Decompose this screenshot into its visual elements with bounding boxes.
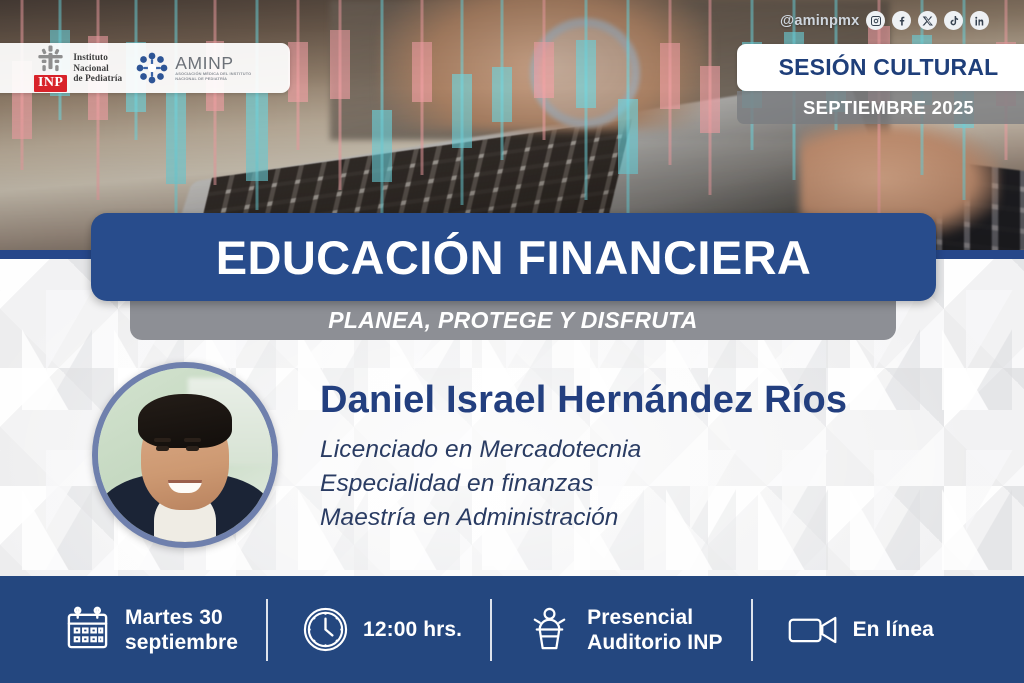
aminp-circle-icon <box>136 52 168 84</box>
session-month-box: SEPTIEMBRE 2025 <box>737 91 1024 124</box>
aminp-logo: AMINP ASOCIACIÓN MÉDICA DEL INSTITUTO NA… <box>136 52 267 84</box>
speaker-credentials: Licenciado en Mercadotecnia Especialidad… <box>320 434 641 534</box>
inp-line-2: Nacional <box>73 63 122 73</box>
clock-icon <box>302 606 349 653</box>
logo-box: INP Instituto Nacional de Pediatría <box>0 43 290 93</box>
inp-pediatrics-icon <box>37 44 64 74</box>
avatar-brow-left <box>154 438 171 442</box>
session-month: SEPTIEMBRE 2025 <box>803 97 974 119</box>
footer-info-bar: Martes 30 septiembre 12:00 hrs. <box>0 576 1024 683</box>
credential-line: Licenciado en Mercadotecnia <box>320 434 641 466</box>
poster-title: EDUCACIÓN FINANCIERA <box>216 234 812 281</box>
title-banner: EDUCACIÓN FINANCIERA <box>91 213 936 301</box>
footer-divider <box>266 599 268 661</box>
footer-item-date: Martes 30 septiembre <box>64 605 238 655</box>
facebook-icon[interactable] <box>892 11 911 30</box>
x-twitter-icon[interactable] <box>918 11 937 30</box>
social-bar: @aminpmx <box>780 11 989 30</box>
aminp-subtitle: ASOCIACIÓN MÉDICA DEL INSTITUTO NACIONAL… <box>175 72 267 81</box>
subtitle-bar: PLANEA, PROTEGE Y DISFRUTA <box>130 301 896 340</box>
footer-divider <box>751 599 753 661</box>
footer-online-text: En línea <box>853 617 934 642</box>
footer-divider <box>490 599 492 661</box>
footer-item-online: En línea <box>787 610 934 650</box>
avatar-brow-right <box>184 438 201 442</box>
inp-line-3: de Pediatría <box>73 73 122 83</box>
footer-time-text: 12:00 hrs. <box>363 617 462 642</box>
credential-line: Especialidad en finanzas <box>320 468 641 500</box>
speaker-avatar <box>92 362 278 548</box>
inp-logo: INP Instituto Nacional de Pediatría <box>34 44 122 92</box>
video-camera-icon <box>787 610 839 650</box>
linkedin-icon[interactable] <box>970 11 989 30</box>
podium-speaker-icon <box>526 606 573 653</box>
social-handle[interactable]: @aminpmx <box>780 13 859 29</box>
session-label: SESIÓN CULTURAL <box>779 54 999 81</box>
inp-wordmark: Instituto Nacional de Pediatría <box>73 52 122 83</box>
footer-item-venue: Presencial Auditorio INP <box>526 605 722 655</box>
avatar-eye-left <box>156 446 169 451</box>
avatar-eye-right <box>186 446 199 451</box>
session-label-box: SESIÓN CULTURAL <box>737 44 1024 91</box>
tiktok-icon[interactable] <box>944 11 963 30</box>
footer-date-text: Martes 30 septiembre <box>125 605 238 655</box>
event-poster: @aminpmx <box>0 0 1024 683</box>
credential-line: Maestría en Administración <box>320 502 641 534</box>
speaker-name: Daniel Israel Hernández Ríos <box>320 379 847 422</box>
inp-badge: INP <box>34 75 67 92</box>
aminp-wordmark: AMINP ASOCIACIÓN MÉDICA DEL INSTITUTO NA… <box>175 55 267 81</box>
poster-subtitle: PLANEA, PROTEGE Y DISFRUTA <box>328 307 697 334</box>
inp-line-1: Instituto <box>73 52 122 62</box>
footer-venue-text: Presencial Auditorio INP <box>587 605 722 655</box>
instagram-icon[interactable] <box>866 11 885 30</box>
aminp-name: AMINP <box>175 55 267 72</box>
footer-item-time: 12:00 hrs. <box>302 606 462 653</box>
calendar-icon <box>64 606 111 653</box>
